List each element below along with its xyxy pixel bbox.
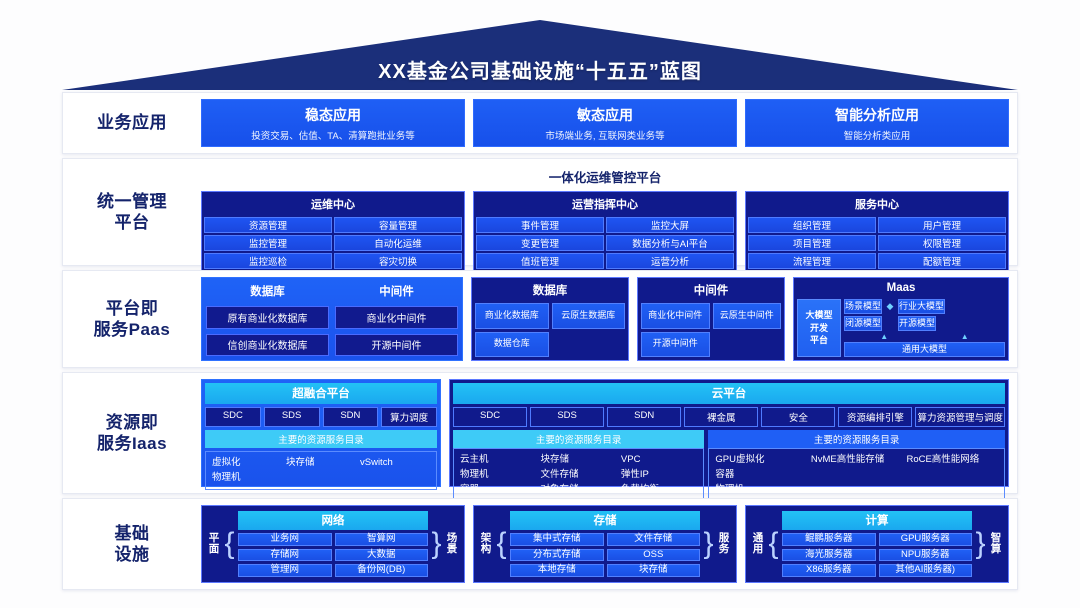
- infra-item[interactable]: 块存储: [607, 564, 701, 576]
- maas-scene-model[interactable]: 场景模型: [844, 299, 882, 314]
- paas-item[interactable]: 商业化中间件: [335, 306, 458, 329]
- cloud-catalog-header: 主要的资源服务目录: [453, 430, 704, 448]
- center-header: 运营指挥中心: [476, 194, 734, 215]
- row-infrastructure-as-a-service: 资源即 服务Iaas 超融合平台 SDC SDS SDN 算力调度 主要的资源服…: [62, 372, 1018, 494]
- maas-model-dev-platform[interactable]: 大模型 开发 平台: [797, 299, 841, 357]
- center-cell[interactable]: 资源管理: [204, 217, 332, 233]
- paas-item[interactable]: 商业化数据库: [475, 303, 549, 329]
- paas-block-header: 中间件: [641, 281, 781, 300]
- infra-item[interactable]: 本地存储: [510, 564, 604, 576]
- paas-body: 数据库 原有商业化数据库 信创商业化数据库 中间件 商业化中间件 开源中间件 数…: [201, 271, 1017, 367]
- center-cell[interactable]: 数据分析与AI平台: [606, 235, 734, 251]
- center-grid: 组织管理 用户管理 项目管理 权限管理 流程管理 配额管理: [748, 217, 1006, 269]
- maas-left-line2: 开发: [805, 322, 832, 335]
- catalog-item[interactable]: RoCE高性能网络: [906, 453, 998, 467]
- brace-left-icon: {: [496, 532, 507, 556]
- paas-item[interactable]: 信创商业化数据库: [206, 334, 329, 357]
- paas-item[interactable]: 云原生中间件: [713, 303, 782, 329]
- app-card-title: 智能分析应用: [835, 105, 919, 125]
- center-cell[interactable]: 组织管理: [748, 217, 876, 233]
- infra-header: 存储: [510, 511, 700, 530]
- maas-left-line1: 大模型: [805, 309, 832, 322]
- center-operations-command[interactable]: 运营指挥中心 事件管理 监控大屏 变更管理 数据分析与AI平台 值班管理 运营分…: [473, 191, 737, 272]
- app-card-subtitle: 智能分析类应用: [844, 128, 911, 142]
- maas-arrows: ▲ ▲: [844, 333, 1005, 340]
- cloud-tags: SDC SDS SDN 裸金属 安全 资源编排引擎 算力资源管理与调度: [453, 407, 1005, 427]
- maas-open-source-model[interactable]: 开源模型: [898, 316, 936, 331]
- cloud-tag[interactable]: 资源编排引擎: [838, 407, 912, 427]
- cloud-catalog-header: 主要的资源服务目录: [708, 430, 1005, 448]
- row-label-iaas: 资源即 服务Iaas: [63, 373, 201, 493]
- row-label-line2: 平台: [97, 212, 167, 233]
- cloud-tag[interactable]: SDS: [530, 407, 604, 427]
- infra-item[interactable]: 集中式存储: [510, 533, 604, 545]
- maas-left-line3: 平台: [805, 334, 832, 347]
- infra-left-label-text: 通用: [751, 533, 765, 555]
- center-cell[interactable]: 权限管理: [878, 235, 1006, 251]
- row-label-line2: 设施: [115, 544, 150, 565]
- paas-stable-middleware: 中间件 商业化中间件 开源中间件: [335, 282, 458, 356]
- maas-closed-source-model[interactable]: 闭源模型: [844, 316, 882, 331]
- infra-left-label: 架构: [479, 533, 493, 555]
- catalog-item[interactable]: 块存储: [540, 453, 616, 467]
- catalog-item[interactable]: 容器: [715, 468, 807, 482]
- cloud-platform-block: 云平台 SDC SDS SDN 裸金属 安全 资源编排引擎 算力资源管理与调度 …: [449, 379, 1009, 487]
- infra-item[interactable]: GPU服务器: [879, 533, 973, 545]
- hci-tag[interactable]: SDS: [264, 407, 320, 427]
- app-card-stable[interactable]: 稳态应用 投资交易、估值、TA、清算跑批业务等: [201, 99, 465, 147]
- catalog-item[interactable]: VPC: [621, 453, 697, 467]
- catalog-item[interactable]: 负载均衡: [621, 483, 697, 497]
- row-label-business-applications: 业务应用: [63, 93, 201, 153]
- paas-block-header: Maas: [797, 281, 1005, 296]
- maas-general-model[interactable]: 通用大模型: [844, 342, 1005, 357]
- catalog-item[interactable]: 文件存储: [540, 468, 616, 482]
- app-card-subtitle: 市场端业务, 互联网类业务等: [545, 128, 664, 142]
- paas-database-block: 数据库 商业化数据库 云原生数据库 数据仓库: [471, 277, 629, 361]
- catalog-item: [906, 468, 998, 482]
- cloud-tag[interactable]: 算力资源管理与调度: [915, 407, 1005, 427]
- row-label-infrastructure: 基础 设施: [63, 499, 201, 589]
- cloud-catalog-stable: 主要的资源服务目录 云主机 块存储 VPC 物理机 文件存储 弹性IP 容器 对…: [453, 430, 704, 501]
- center-service[interactable]: 服务中心 组织管理 用户管理 项目管理 权限管理 流程管理 配额管理: [745, 191, 1009, 272]
- paas-item[interactable]: 开源中间件: [335, 334, 458, 357]
- hci-tag[interactable]: SDC: [205, 407, 261, 427]
- infra-item[interactable]: X86服务器: [782, 564, 876, 576]
- maas-model-stack: 场景模型 ◆ 行业大模型 闭源模型 开源模型 ▲ ▲: [844, 299, 1005, 357]
- infra-header: 网络: [238, 511, 428, 530]
- catalog-item[interactable]: 物理机: [212, 471, 282, 485]
- hci-header: 超融合平台: [205, 383, 437, 404]
- row-label-line2: 服务Iaas: [97, 433, 167, 454]
- row-label-line1: 资源即: [97, 412, 167, 433]
- cloud-catalogs: 主要的资源服务目录 云主机 块存储 VPC 物理机 文件存储 弹性IP 容器 对…: [453, 430, 1005, 501]
- diamond-connector-icon: ◆: [884, 299, 896, 314]
- row-label-line1: 统一管理: [97, 191, 167, 212]
- center-header: 运维中心: [204, 194, 462, 215]
- app-card-intelligent-analysis[interactable]: 智能分析应用 智能分析类应用: [745, 99, 1009, 147]
- hci-catalog-items: 虚拟化 块存储 vSwitch 物理机: [205, 451, 437, 490]
- catalog-item[interactable]: 物理机: [715, 483, 807, 497]
- paas-middleware-grid: 商业化中间件 云原生中间件 开源中间件: [641, 303, 781, 357]
- paas-stable-database: 数据库 原有商业化数据库 信创商业化数据库: [206, 282, 329, 356]
- infra-right-label-text: 场景: [445, 533, 459, 555]
- infra-item[interactable]: 智算网: [335, 533, 429, 545]
- paas-item-empty: [713, 332, 782, 358]
- infra-grid: 鲲鹏服务器 GPU服务器 海光服务器 NPU服务器 X86服务器 其他AI服务器…: [782, 533, 972, 576]
- brace-left-icon: {: [768, 532, 779, 556]
- hci-tag[interactable]: SDN: [323, 407, 379, 427]
- row-infrastructure: 基础 设施 平面 { 网络 业务网 智算网 存储网 大数据 管理网: [62, 498, 1018, 590]
- catalog-item[interactable]: 物理机: [460, 468, 536, 482]
- paas-database-grid: 商业化数据库 云原生数据库 数据仓库: [475, 303, 625, 357]
- infra-block-storage: 架构 { 存储 集中式存储 文件存储 分布式存储 OSS 本地存储 块存储 }: [473, 505, 737, 583]
- page-title: XX基金公司基础设施“十五五”蓝图: [62, 55, 1018, 84]
- hci-tag[interactable]: 算力调度: [381, 407, 437, 427]
- row-label-paas: 平台即 服务Paas: [63, 271, 201, 367]
- spacer: [884, 316, 896, 331]
- infrastructure-body: 平面 { 网络 业务网 智算网 存储网 大数据 管理网 备份网(DB) }: [201, 499, 1017, 589]
- unified-management-body: 一体化运维管控平台 运维中心 资源管理 容量管理 监控管理 自动化运维 监控巡检…: [201, 159, 1017, 265]
- catalog-item[interactable]: GPU虚拟化: [715, 453, 807, 467]
- infra-left-label-text: 架构: [479, 533, 493, 555]
- hci-catalog-header: 主要的资源服务目录: [205, 430, 437, 448]
- paas-stable-block: 数据库 原有商业化数据库 信创商业化数据库 中间件 商业化中间件 开源中间件: [201, 277, 463, 361]
- infra-item[interactable]: 分布式存储: [510, 549, 604, 561]
- maas-row-scene: 场景模型 ◆ 行业大模型: [844, 299, 1005, 314]
- center-cell[interactable]: 变更管理: [476, 235, 604, 251]
- infra-right-label: 场景: [445, 533, 459, 555]
- infra-item[interactable]: OSS: [607, 549, 701, 561]
- center-cell[interactable]: 用户管理: [878, 217, 1006, 233]
- catalog-item[interactable]: 块存储: [286, 456, 356, 470]
- row-label-line2: 服务Paas: [94, 319, 171, 340]
- infra-item[interactable]: 其他AI服务器): [879, 564, 973, 576]
- infra-right-label-text: 服务: [717, 533, 731, 555]
- center-cell[interactable]: 事件管理: [476, 217, 604, 233]
- hci-tags: SDC SDS SDN 算力调度: [205, 407, 437, 427]
- center-ops[interactable]: 运维中心 资源管理 容量管理 监控管理 自动化运维 监控巡检 容灾切换: [201, 191, 465, 272]
- cloud-catalog-items: 云主机 块存储 VPC 物理机 文件存储 弹性IP 容器 对象存储 负载均衡: [453, 448, 704, 501]
- infra-item[interactable]: 鲲鹏服务器: [782, 533, 876, 545]
- center-header: 服务中心: [748, 194, 1006, 215]
- cloud-tag[interactable]: SDN: [607, 407, 681, 427]
- infra-core: 计算 鲲鹏服务器 GPU服务器 海光服务器 NPU服务器 X86服务器 其他AI…: [782, 511, 972, 576]
- center-cell[interactable]: 值班管理: [476, 253, 604, 269]
- row-business-applications: 业务应用 稳态应用 投资交易、估值、TA、清算跑批业务等 敏态应用 市场端业务,…: [62, 92, 1018, 154]
- paas-item[interactable]: 商业化中间件: [641, 303, 710, 329]
- infra-item[interactable]: 业务网: [238, 533, 332, 545]
- catalog-item[interactable]: 虚拟化: [212, 456, 282, 470]
- paas-block-header: 数据库: [475, 281, 625, 300]
- paas-col-header: 数据库: [206, 282, 329, 301]
- app-card-agile[interactable]: 敏态应用 市场端业务, 互联网类业务等: [473, 99, 737, 147]
- business-applications-cards: 稳态应用 投资交易、估值、TA、清算跑批业务等 敏态应用 市场端业务, 互联网类…: [201, 93, 1017, 153]
- brace-right-icon: }: [703, 532, 714, 556]
- center-cell[interactable]: 监控巡检: [204, 253, 332, 269]
- catalog-item[interactable]: 对象存储: [540, 483, 616, 497]
- arrow-up-icon: ▲: [880, 333, 888, 340]
- paas-item[interactable]: 开源中间件: [641, 332, 710, 358]
- infra-core: 网络 业务网 智算网 存储网 大数据 管理网 备份网(DB): [238, 511, 428, 576]
- infra-item[interactable]: 存储网: [238, 549, 332, 561]
- center-grid: 事件管理 监控大屏 变更管理 数据分析与AI平台 值班管理 运营分析: [476, 217, 734, 269]
- paas-item-empty: [552, 332, 626, 358]
- center-cell[interactable]: 项目管理: [748, 235, 876, 251]
- center-cell[interactable]: 容灾切换: [334, 253, 462, 269]
- diagram-canvas: XX基金公司基础设施“十五五”蓝图 业务应用 稳态应用 投资交易、估值、TA、清…: [0, 0, 1080, 608]
- app-card-title: 稳态应用: [305, 105, 361, 125]
- arrow-up-icon: ▲: [961, 333, 969, 340]
- row-platform-as-a-service: 平台即 服务Paas 数据库 原有商业化数据库 信创商业化数据库 中间件 商业化…: [62, 270, 1018, 368]
- infra-item[interactable]: 大数据: [335, 549, 429, 561]
- integrated-ops-platform-title: 一体化运维管控平台: [201, 165, 1009, 189]
- infra-item[interactable]: 管理网: [238, 564, 332, 576]
- infra-item[interactable]: NPU服务器: [879, 549, 973, 561]
- center-cell[interactable]: 监控管理: [204, 235, 332, 251]
- maas-body: 大模型 开发 平台 场景模型 ◆ 行业大模型 闭源模型: [797, 299, 1005, 357]
- row-label-line1: 基础: [115, 523, 150, 544]
- infra-right-label-text: 智算: [989, 533, 1003, 555]
- infra-right-label: 智算: [989, 533, 1003, 555]
- infra-grid: 集中式存储 文件存储 分布式存储 OSS 本地存储 块存储: [510, 533, 700, 576]
- cloud-tag[interactable]: SDC: [453, 407, 527, 427]
- maas-row-source: 闭源模型 开源模型: [844, 316, 1005, 331]
- infra-left-label: 通用: [751, 533, 765, 555]
- infra-item[interactable]: 文件存储: [607, 533, 701, 545]
- roof-banner: XX基金公司基础设施“十五五”蓝图: [62, 20, 1018, 90]
- maas-row-general: 通用大模型: [844, 342, 1005, 357]
- catalog-item: [811, 468, 903, 482]
- cloud-tag[interactable]: 安全: [761, 407, 835, 427]
- infra-left-label: 平面: [207, 533, 221, 555]
- infra-item[interactable]: 备份网(DB): [335, 564, 429, 576]
- maas-industry-model[interactable]: 行业大模型: [898, 299, 945, 314]
- management-centers: 运维中心 资源管理 容量管理 监控管理 自动化运维 监控巡检 容灾切换 运营指挥…: [201, 191, 1009, 272]
- infra-grid: 业务网 智算网 存储网 大数据 管理网 备份网(DB): [238, 533, 428, 576]
- catalog-item[interactable]: 容器: [460, 483, 536, 497]
- hyperconverged-platform-block: 超融合平台 SDC SDS SDN 算力调度 主要的资源服务目录 虚拟化 块存储…: [201, 379, 441, 487]
- app-card-title: 敏态应用: [577, 105, 633, 125]
- infra-left-label-text: 平面: [207, 533, 221, 555]
- center-grid: 资源管理 容量管理 监控管理 自动化运维 监控巡检 容灾切换: [204, 217, 462, 269]
- center-cell[interactable]: 自动化运维: [334, 235, 462, 251]
- cloud-catalog-agile: 主要的资源服务目录 GPU虚拟化 NvME高性能存储 RoCE高性能网络 容器 …: [708, 430, 1005, 501]
- infra-block-compute: 通用 { 计算 鲲鹏服务器 GPU服务器 海光服务器 NPU服务器 X86服务器…: [745, 505, 1009, 583]
- catalog-item[interactable]: NvME高性能存储: [811, 453, 903, 467]
- cloud-tag[interactable]: 裸金属: [684, 407, 758, 427]
- catalog-item[interactable]: 云主机: [460, 453, 536, 467]
- row-label-line1: 平台即: [94, 298, 171, 319]
- paas-maas-block: Maas 大模型 开发 平台 场景模型 ◆ 行业大模型: [793, 277, 1009, 361]
- center-cell[interactable]: 运营分析: [606, 253, 734, 269]
- infra-item[interactable]: 海光服务器: [782, 549, 876, 561]
- catalog-item[interactable]: 弹性IP: [621, 468, 697, 482]
- catalog-item[interactable]: vSwitch: [360, 456, 430, 470]
- cloud-header: 云平台: [453, 383, 1005, 404]
- row-unified-management-platform: 统一管理 平台 一体化运维管控平台 运维中心 资源管理 容量管理 监控管理 自动…: [62, 158, 1018, 266]
- brace-right-icon: }: [431, 532, 442, 556]
- row-label-unified-management: 统一管理 平台: [63, 159, 201, 265]
- brace-right-icon: }: [975, 532, 986, 556]
- paas-middleware-block: 中间件 商业化中间件 云原生中间件 开源中间件: [637, 277, 785, 361]
- paas-col-header: 中间件: [335, 282, 458, 301]
- paas-item[interactable]: 云原生数据库: [552, 303, 626, 329]
- paas-item[interactable]: 数据仓库: [475, 332, 549, 358]
- infra-header: 计算: [782, 511, 972, 530]
- center-cell[interactable]: 容量管理: [334, 217, 462, 233]
- paas-item[interactable]: 原有商业化数据库: [206, 306, 329, 329]
- infra-block-network: 平面 { 网络 业务网 智算网 存储网 大数据 管理网 备份网(DB) }: [201, 505, 465, 583]
- infra-core: 存储 集中式存储 文件存储 分布式存储 OSS 本地存储 块存储: [510, 511, 700, 576]
- app-card-subtitle: 投资交易、估值、TA、清算跑批业务等: [251, 128, 414, 142]
- center-cell[interactable]: 监控大屏: [606, 217, 734, 233]
- brace-left-icon: {: [224, 532, 235, 556]
- cloud-catalog-items: GPU虚拟化 NvME高性能存储 RoCE高性能网络 容器 物理机: [708, 448, 1005, 501]
- infra-right-label: 服务: [717, 533, 731, 555]
- iaas-body: 超融合平台 SDC SDS SDN 算力调度 主要的资源服务目录 虚拟化 块存储…: [201, 373, 1017, 493]
- center-cell[interactable]: 流程管理: [748, 253, 876, 269]
- center-cell[interactable]: 配额管理: [878, 253, 1006, 269]
